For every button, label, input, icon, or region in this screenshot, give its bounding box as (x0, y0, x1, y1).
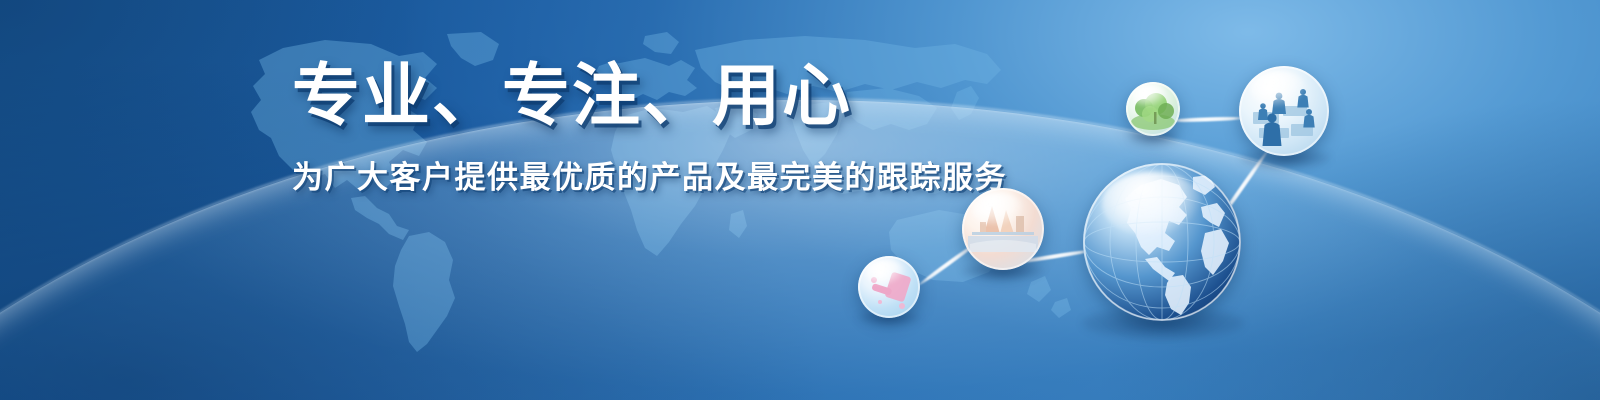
business-people-icon (1239, 66, 1329, 156)
globe-icon (1083, 163, 1241, 321)
people-sphere-rim (1239, 66, 1329, 156)
city-sphere-rim (962, 188, 1044, 270)
pink-sphere-rim (858, 256, 920, 318)
globe-rim (1083, 163, 1241, 321)
industrial-city-icon (962, 188, 1044, 270)
sphere-cluster-graphic (0, 0, 1600, 400)
product-package-icon (858, 256, 920, 318)
promo-banner: 专业、专注、用心 为广大客户提供最优质的产品及最完美的跟踪服务 (0, 0, 1600, 400)
nature-leaf-icon (1126, 82, 1180, 136)
green-sphere-rim (1126, 82, 1180, 136)
